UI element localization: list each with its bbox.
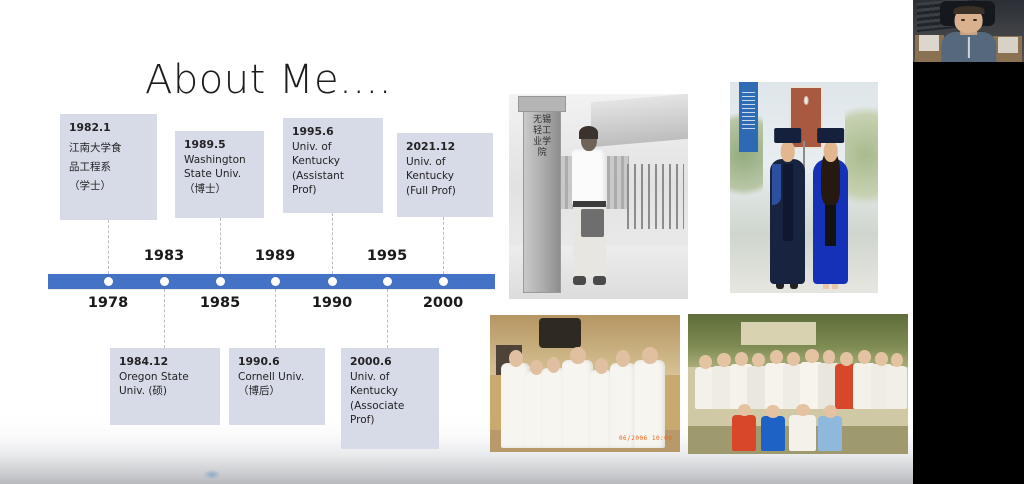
group-person-head bbox=[796, 404, 811, 417]
event-connector-1995.6 bbox=[332, 213, 333, 274]
event-line: Oregon State bbox=[119, 370, 212, 384]
group-person-head bbox=[891, 353, 903, 367]
group-person-head bbox=[699, 355, 712, 369]
lab-person-head bbox=[642, 347, 658, 365]
event-line: （博后） bbox=[238, 384, 317, 398]
event-line: （学士） bbox=[69, 177, 149, 196]
event-line: Univ. of bbox=[406, 155, 485, 169]
event-connector-1984.12 bbox=[164, 289, 165, 348]
event-line: (Assistant bbox=[292, 169, 375, 183]
face bbox=[780, 141, 795, 162]
event-connector-2000.6 bbox=[387, 289, 388, 348]
timeline-year-1989: 1989 bbox=[255, 248, 295, 264]
group-person-head bbox=[717, 353, 730, 367]
event-description: Oregon StateUniv. (硕) bbox=[119, 370, 212, 398]
event-description: 江南大学食品工程系（学士） bbox=[69, 139, 149, 196]
event-line: Prof) bbox=[350, 413, 431, 427]
event-description: Cornell Univ.（博后） bbox=[238, 370, 317, 398]
papers-right bbox=[998, 37, 1018, 53]
photo-gate-pillar-cap bbox=[518, 96, 567, 112]
event-description: Univ. ofKentucky(AssistantProf) bbox=[292, 140, 375, 197]
graduation-photo bbox=[730, 82, 878, 293]
timeline-year-2000: 2000 bbox=[423, 295, 463, 311]
timeline-year-1995: 1995 bbox=[367, 248, 407, 264]
graduate-male bbox=[768, 128, 806, 288]
event-date: 1989.5 bbox=[184, 138, 256, 152]
timeline-year-1978: 1978 bbox=[88, 295, 128, 311]
graduate-female bbox=[811, 128, 849, 288]
group-person-head bbox=[875, 352, 888, 366]
gate-sign-text: 无锡轻工业学院 bbox=[530, 115, 553, 159]
lab-person-head bbox=[595, 358, 608, 374]
group-person-head bbox=[824, 405, 837, 418]
group-person-head bbox=[766, 405, 779, 418]
timeline-year-1985: 1985 bbox=[200, 295, 240, 311]
photo-person-belt bbox=[573, 201, 605, 207]
event-line: 江南大学食 bbox=[69, 139, 149, 158]
group-person-seated bbox=[761, 416, 785, 451]
photo-timestamp: 06/2006 10:00 bbox=[619, 435, 672, 442]
event-line: Prof) bbox=[292, 183, 375, 197]
campus-gate-photo: 无锡轻工业学院 bbox=[509, 94, 688, 299]
timeline-event-1990.6: 1990.6Cornell Univ.（博后） bbox=[229, 348, 325, 425]
timeline-dot-2 bbox=[160, 277, 169, 286]
timeline-dot-1 bbox=[104, 277, 113, 286]
timeline-dot-5 bbox=[328, 277, 337, 286]
papers-left bbox=[919, 35, 939, 51]
outdoor-group-photo bbox=[688, 314, 908, 454]
event-description: Univ. ofKentucky(AssociateProf) bbox=[350, 370, 431, 427]
lab-equipment bbox=[539, 318, 581, 348]
event-connector-1982.1 bbox=[108, 220, 109, 274]
lab-person-head bbox=[547, 357, 560, 373]
photo-person-shirt bbox=[572, 149, 608, 204]
timeline-event-2021.12: 2021.12Univ. ofKentucky(Full Prof) bbox=[397, 133, 493, 217]
event-connector-1990.6 bbox=[275, 289, 276, 348]
event-line: Univ. (硕) bbox=[119, 384, 212, 398]
campus-banner bbox=[739, 82, 758, 152]
event-line: 品工程系 bbox=[69, 158, 149, 177]
event-connector-1989.5 bbox=[220, 218, 221, 274]
group-person-head bbox=[840, 352, 853, 366]
timeline-year-1983: 1983 bbox=[144, 248, 184, 264]
event-line: (Full Prof) bbox=[406, 184, 485, 198]
presentation-slide: About Me.... 198319891995197819851990200… bbox=[0, 0, 913, 484]
event-connector-2021.12 bbox=[443, 217, 444, 274]
event-date: 1982.1 bbox=[69, 121, 149, 135]
timeline-year-1990: 1990 bbox=[312, 295, 352, 311]
timeline-event-1984.12: 1984.12Oregon StateUniv. (硕) bbox=[110, 348, 220, 425]
mortarboard-icon bbox=[817, 128, 845, 142]
photo-canopy bbox=[591, 94, 688, 147]
presenter-hair bbox=[953, 6, 984, 14]
photo-person-hair bbox=[579, 126, 598, 139]
event-line: Cornell Univ. bbox=[238, 370, 317, 384]
event-line: Kentucky bbox=[292, 154, 375, 168]
timeline-event-2000.6: 2000.6Univ. ofKentucky(AssociateProf) bbox=[341, 348, 439, 449]
event-date: 1990.6 bbox=[238, 355, 317, 369]
event-date: 1995.6 bbox=[292, 125, 375, 139]
event-line: Kentucky bbox=[350, 384, 431, 398]
academic-hood bbox=[772, 164, 780, 206]
photo-tree-right bbox=[845, 103, 878, 219]
lab-person-head bbox=[570, 347, 586, 365]
event-date: 1984.12 bbox=[119, 355, 212, 369]
page-title: About Me.... bbox=[145, 57, 392, 103]
event-line: (Associate bbox=[350, 399, 431, 413]
lanyard bbox=[967, 37, 969, 58]
group-person-head bbox=[787, 352, 800, 366]
photo-person-shoe-right bbox=[593, 276, 606, 284]
photo-person-bag bbox=[581, 209, 604, 238]
photo-wall bbox=[741, 322, 816, 344]
event-line: Washington bbox=[184, 153, 256, 167]
slide-watermark bbox=[204, 470, 220, 479]
event-description: WashingtonState Univ.（博士） bbox=[184, 153, 256, 196]
timeline-event-1989.5: 1989.5WashingtonState Univ.（博士） bbox=[175, 131, 264, 218]
group-person-standing bbox=[886, 366, 907, 409]
event-date: 2000.6 bbox=[350, 355, 431, 369]
screen-root: About Me.... 198319891995197819851990200… bbox=[0, 0, 1024, 484]
group-person-head bbox=[735, 352, 748, 366]
face bbox=[823, 141, 838, 162]
event-line: Univ. of bbox=[292, 140, 375, 154]
photo-person-shoe-left bbox=[573, 276, 586, 284]
event-description: Univ. ofKentucky(Full Prof) bbox=[406, 155, 485, 198]
event-line: （博士） bbox=[184, 182, 256, 196]
timeline-dot-6 bbox=[383, 277, 392, 286]
timeline-event-1982.1: 1982.1江南大学食品工程系（学士） bbox=[60, 114, 157, 220]
group-person-seated bbox=[818, 416, 842, 451]
lab-group-photo: 06/2006 10:00 bbox=[490, 315, 680, 452]
group-person-seated bbox=[732, 415, 756, 451]
presenter-webcam[interactable] bbox=[913, 0, 1024, 62]
timeline-dot-7 bbox=[439, 277, 448, 286]
timeline-dot-4 bbox=[271, 277, 280, 286]
group-person-head bbox=[805, 349, 818, 363]
mortarboard-icon bbox=[774, 128, 802, 142]
timeline-event-1995.6: 1995.6Univ. ofKentucky(AssistantProf) bbox=[283, 118, 383, 213]
event-date: 2021.12 bbox=[406, 140, 485, 154]
event-line: State Univ. bbox=[184, 167, 256, 181]
seal-icon bbox=[804, 96, 809, 104]
group-person-seated bbox=[789, 415, 815, 451]
event-line: Kentucky bbox=[406, 169, 485, 183]
event-line: Univ. of bbox=[350, 370, 431, 384]
timeline-dot-3 bbox=[216, 277, 225, 286]
photo-fence bbox=[627, 164, 684, 230]
